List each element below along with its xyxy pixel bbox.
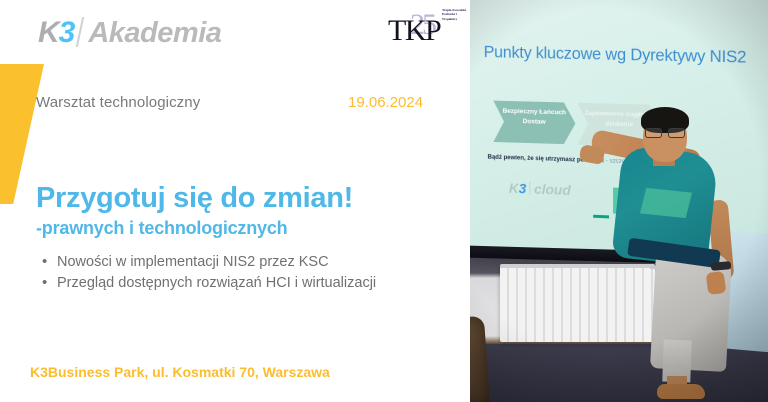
topic-list: Nowości w implementacji NIS2 przez KSC P… xyxy=(40,252,376,294)
k3cloud-letter-k: K xyxy=(509,180,519,196)
k3cloud-digit-3: 3 xyxy=(519,180,527,196)
slide-logo-k3-cloud: K3cloud xyxy=(509,180,571,198)
left-content-panel: K3Akademia 25 TKP Trepla Kowalski Podrec… xyxy=(0,0,470,402)
k3-akademia-logo: K3Akademia xyxy=(38,16,221,50)
radiator xyxy=(500,264,655,342)
tkp-partner-logo: 25 TKP Trepla Kowalski Podrecki i Wspóln… xyxy=(388,6,464,62)
logo-divider-icon xyxy=(76,17,84,47)
slide-chevron-1: Bezpieczny Łańcuch Dostaw xyxy=(493,101,575,145)
slide-title: Punkty kluczowe wg Dyrektywy NIS2 xyxy=(484,43,747,67)
tkp-subtitle: Trepla Kowalski Podrecki i Wspólnicy xyxy=(442,8,472,21)
logo-word-akademia: Akademia xyxy=(88,17,221,49)
presenter-shirt-logo xyxy=(640,188,692,218)
k3cloud-word: cloud xyxy=(534,181,571,198)
tkp-wordmark: TKP xyxy=(388,14,440,48)
venue-address: K3Business Park, ul. Kosmatki 70, Warsza… xyxy=(30,364,330,380)
logo-digit-3: 3 xyxy=(59,16,75,49)
logo-letter-k: K xyxy=(38,16,59,49)
k3cloud-divider-icon xyxy=(529,182,530,195)
hpe-bar-icon xyxy=(593,215,609,219)
promo-banner: K3Akademia 25 TKP Trepla Kowalski Podrec… xyxy=(0,0,768,402)
event-date: 19.06.2024 xyxy=(348,94,423,111)
list-item: Przegląd dostępnych rozwiązań HCI i wirt… xyxy=(40,273,376,294)
presenter-glasses-icon xyxy=(645,128,685,136)
presenter-hand-on-knee xyxy=(706,271,727,295)
presenter-shoe xyxy=(657,384,705,399)
subheadline: -prawnych i technologicznych xyxy=(36,218,287,239)
headline: Przygotuj się do zmian! xyxy=(36,182,353,215)
event-type-label: Warsztat technologiczny xyxy=(36,94,200,111)
list-item: Nowości w implementacji NIS2 przez KSC xyxy=(40,252,376,273)
